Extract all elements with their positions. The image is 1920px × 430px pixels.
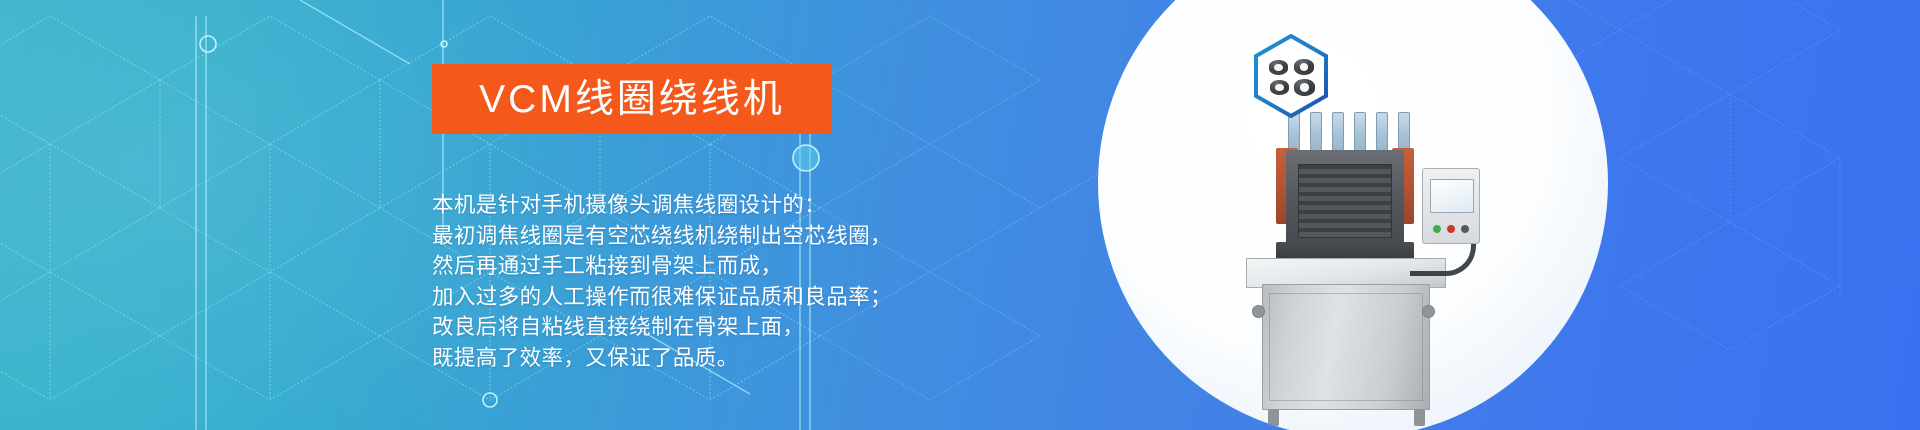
- winding-head-inner: [1298, 164, 1392, 238]
- description-line-6: 既提高了效率，又保证了品质。: [432, 343, 1072, 374]
- control-panel-screen: [1430, 179, 1474, 213]
- description-line-2: 最初调焦线圈是有空芯绕线机绕制出空芯线圈，: [432, 221, 1072, 252]
- product-title-box: VCM线圈绕线机: [432, 64, 832, 134]
- coil-product-icon: [1294, 79, 1315, 96]
- machine-cabinet: [1262, 284, 1430, 410]
- product-photo-area: [1098, 0, 1608, 430]
- panel-start-button: [1433, 225, 1441, 233]
- coil-product-icon: [1269, 60, 1288, 75]
- coil-products-group: [1253, 34, 1329, 118]
- description-line-4: 加入过多的人工操作而很难保证品质和良品率；: [432, 282, 1072, 313]
- description-line-3: 然后再通过手工粘接到骨架上而成，: [432, 251, 1072, 282]
- control-panel: [1422, 168, 1480, 244]
- coil-product-icon: [1270, 80, 1289, 95]
- panel-stop-button: [1447, 225, 1455, 233]
- product-description: 本机是针对手机摄像头调焦线圈设计的： 最初调焦线圈是有空芯绕线机绕制出空芯线圈，…: [432, 190, 1072, 373]
- description-line-5: 改良后将自粘线直接绕制在骨架上面，: [432, 312, 1072, 343]
- winding-machine-image: [1224, 96, 1484, 426]
- photo-disc-backdrop: [1098, 0, 1608, 430]
- hexagon-badge-icon: [1253, 34, 1329, 118]
- cabinet-foot: [1414, 409, 1425, 426]
- cabinet-foot: [1268, 409, 1279, 426]
- coil-product-icon: [1294, 59, 1314, 75]
- product-hero-banner: VCM线圈绕线机 本机是针对手机摄像头调焦线圈设计的： 最初调焦线圈是有空芯绕线…: [0, 0, 1920, 430]
- cabinet-knob: [1252, 305, 1265, 318]
- cabinet-knob: [1422, 305, 1435, 318]
- panel-mode-button: [1461, 225, 1469, 233]
- page-title: VCM线圈绕线机: [479, 80, 785, 119]
- description-line-1: 本机是针对手机摄像头调焦线圈设计的：: [432, 190, 1072, 221]
